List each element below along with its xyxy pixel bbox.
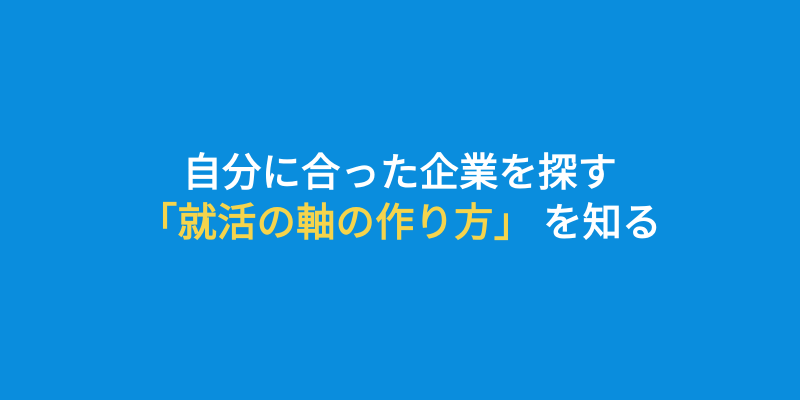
title-slide: 自分に合った企業を探す 「就活の軸の作り方」を知る (0, 0, 800, 400)
headline-line-1: 自分に合った企業を探す (183, 149, 618, 199)
headline-block: 自分に合った企業を探す 「就活の軸の作り方」を知る (0, 149, 800, 249)
headline-line-2: 「就活の軸の作り方」を知る (138, 199, 662, 249)
headline-emphasis-phrase: 「就活の軸の作り方」 (138, 202, 533, 245)
headline-tail-phrase: を知る (543, 202, 662, 245)
